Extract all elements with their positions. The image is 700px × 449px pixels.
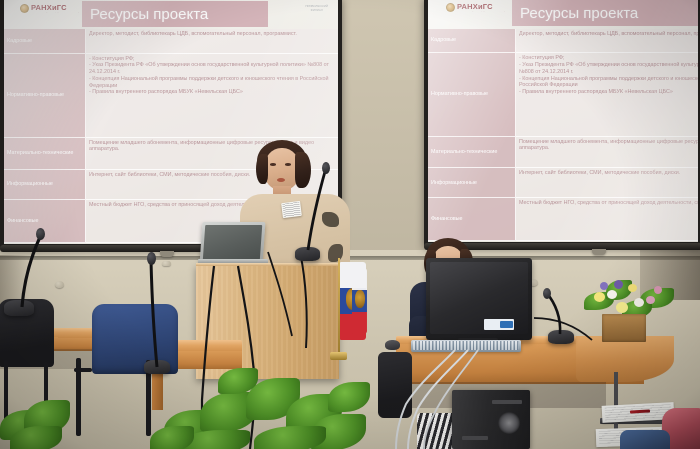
- bouquet-flower-yellow-2: [616, 302, 628, 313]
- microphone-gooseneck-left: [0, 215, 60, 310]
- attendee-torso-denim: [620, 430, 670, 449]
- bouquet-flower-pink-1: [646, 296, 655, 304]
- flag-stand: [330, 352, 347, 360]
- bouquet-flower-purple-2: [600, 282, 608, 290]
- plant-leaf-8: [150, 426, 194, 449]
- flag2-stripe-white: [352, 268, 367, 290]
- bouquet-flower-purple-1: [614, 280, 623, 289]
- microphone-gooseneck-podium: [130, 225, 190, 370]
- microphone-head-operator: [543, 288, 551, 299]
- flower-bouquet: [580, 272, 680, 344]
- russian-flag-secondary: [352, 268, 367, 334]
- microphone-head-left: [36, 228, 45, 240]
- microphone-head-podium: [147, 252, 156, 265]
- screenshot-root: РАНХиГС Российская академия народного хо…: [0, 0, 700, 449]
- bouquet-flower-yellow-1: [594, 292, 605, 302]
- flag2-stripe-red: [352, 312, 367, 334]
- bouquet-flower-pink-2: [654, 286, 662, 294]
- bouquet-vase: [602, 314, 646, 342]
- flag2-coat-of-arms-icon: [355, 290, 365, 308]
- potted-plant-foreground: [150, 368, 370, 449]
- microphone-gooseneck-operator: [528, 278, 588, 338]
- bouquet-flower-yellow-3: [628, 284, 637, 292]
- bouquet-flower-white-1: [607, 290, 617, 299]
- plant-leaf-10: [328, 382, 370, 412]
- potted-plant-left: [0, 400, 70, 449]
- microphone-head-presenter: [322, 162, 330, 174]
- microphone-gooseneck-presenter: [290, 150, 350, 255]
- bouquet-flower-white-2: [634, 298, 644, 307]
- plant-leaf-7: [254, 426, 326, 449]
